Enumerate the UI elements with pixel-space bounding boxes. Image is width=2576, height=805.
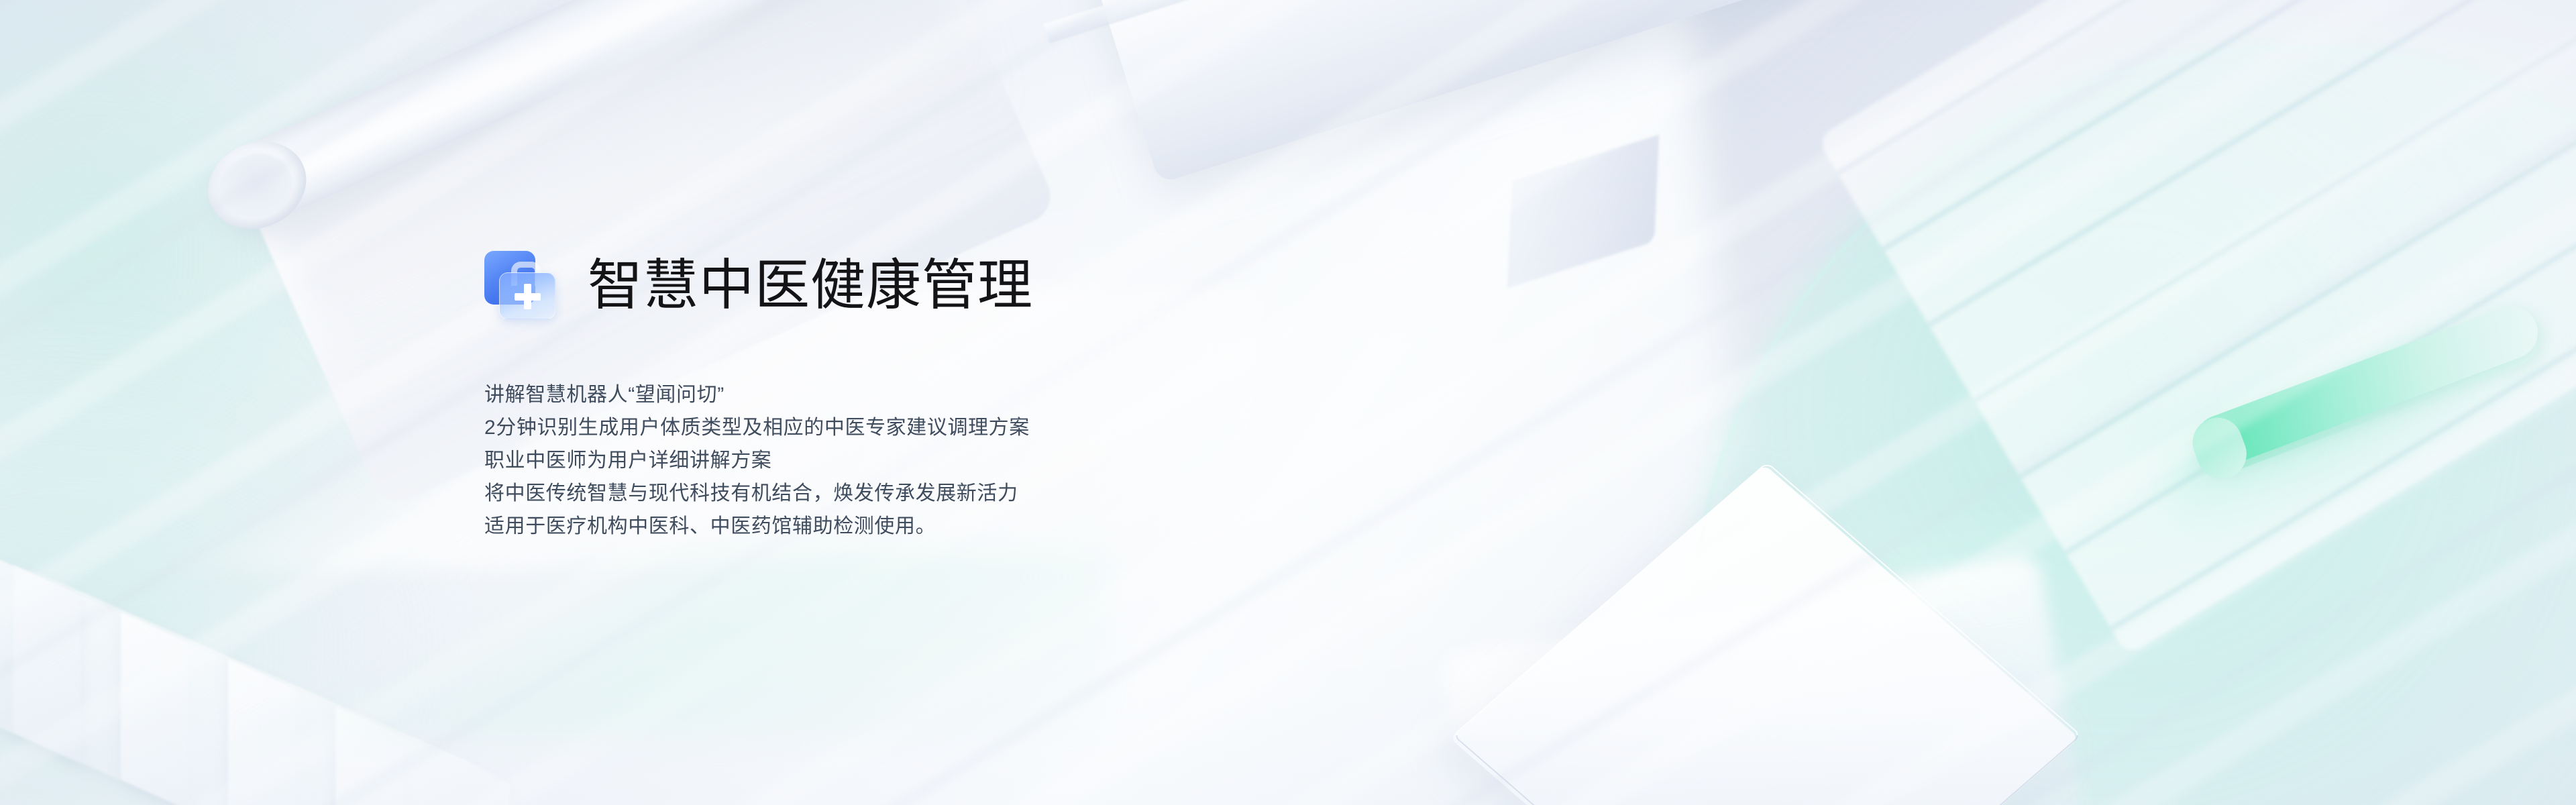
white-shelf-slab bbox=[1046, 0, 2576, 184]
description-line-3: 职业中医师为用户详细讲解方案 bbox=[484, 444, 1488, 477]
white-shelf-edge-highlight bbox=[1044, 0, 2576, 44]
top-right-wash bbox=[1668, 0, 2576, 547]
medical-cross-icon-horizontal bbox=[515, 293, 541, 301]
stepped-shapes bbox=[0, 523, 590, 805]
medical-kit-icon bbox=[482, 247, 559, 325]
curled-paper-roll bbox=[202, 0, 958, 239]
curled-paper-inner-hollow bbox=[208, 142, 303, 231]
hero-banner: 智慧中医健康管理 讲解智慧机器人“望闻问切” 2分钟识别生成用户体质类型及相应的… bbox=[0, 0, 2576, 805]
page-title: 智慧中医健康管理 bbox=[588, 257, 1033, 315]
green-3d-bar bbox=[2173, 256, 2576, 595]
mint-glow-left-lower bbox=[0, 349, 456, 805]
hero-content: 智慧中医健康管理 讲解智慧机器人“望闻问切” 2分钟识别生成用户体质类型及相应的… bbox=[482, 241, 1488, 543]
ribbed-panel bbox=[1817, 0, 2576, 656]
description-block: 讲解智慧机器人“望闻问切” 2分钟识别生成用户体质类型及相应的中医专家建议调理方… bbox=[484, 378, 1488, 543]
glass-plate-base bbox=[1442, 553, 2086, 805]
description-line-1: 讲解智慧机器人“望闻问切” bbox=[484, 378, 1488, 411]
mint-arc-edge bbox=[1690, 47, 2576, 805]
white-shelf-end-cap bbox=[1507, 135, 1659, 288]
glass-diamond-plate-edge bbox=[1452, 462, 2082, 805]
green-bar-top-face bbox=[2188, 299, 2545, 475]
green-bar-glow bbox=[2141, 260, 2576, 553]
top-left-wash bbox=[0, 0, 523, 295]
description-line-5: 适用于医疗机构中医科、中医药馆辅助检测使用。 bbox=[484, 510, 1488, 543]
description-line-4: 将中医传统智慧与现代科技有机结合，焕发传承发展新活力 bbox=[484, 477, 1488, 510]
mint-light-sweep bbox=[168, 550, 1107, 738]
glass-diamond-plate bbox=[1450, 464, 2079, 805]
description-line-2: 2分钟识别生成用户体质类型及相应的中医专家建议调理方案 bbox=[484, 411, 1488, 444]
mint-glow-left bbox=[0, 0, 557, 718]
green-bar-front-face bbox=[2202, 331, 2544, 480]
green-bar-end-cap bbox=[2186, 411, 2254, 486]
curled-paper-end-cap bbox=[194, 126, 320, 244]
mint-arc-glow bbox=[1684, 34, 2576, 805]
title-row: 智慧中医健康管理 bbox=[482, 241, 1488, 330]
